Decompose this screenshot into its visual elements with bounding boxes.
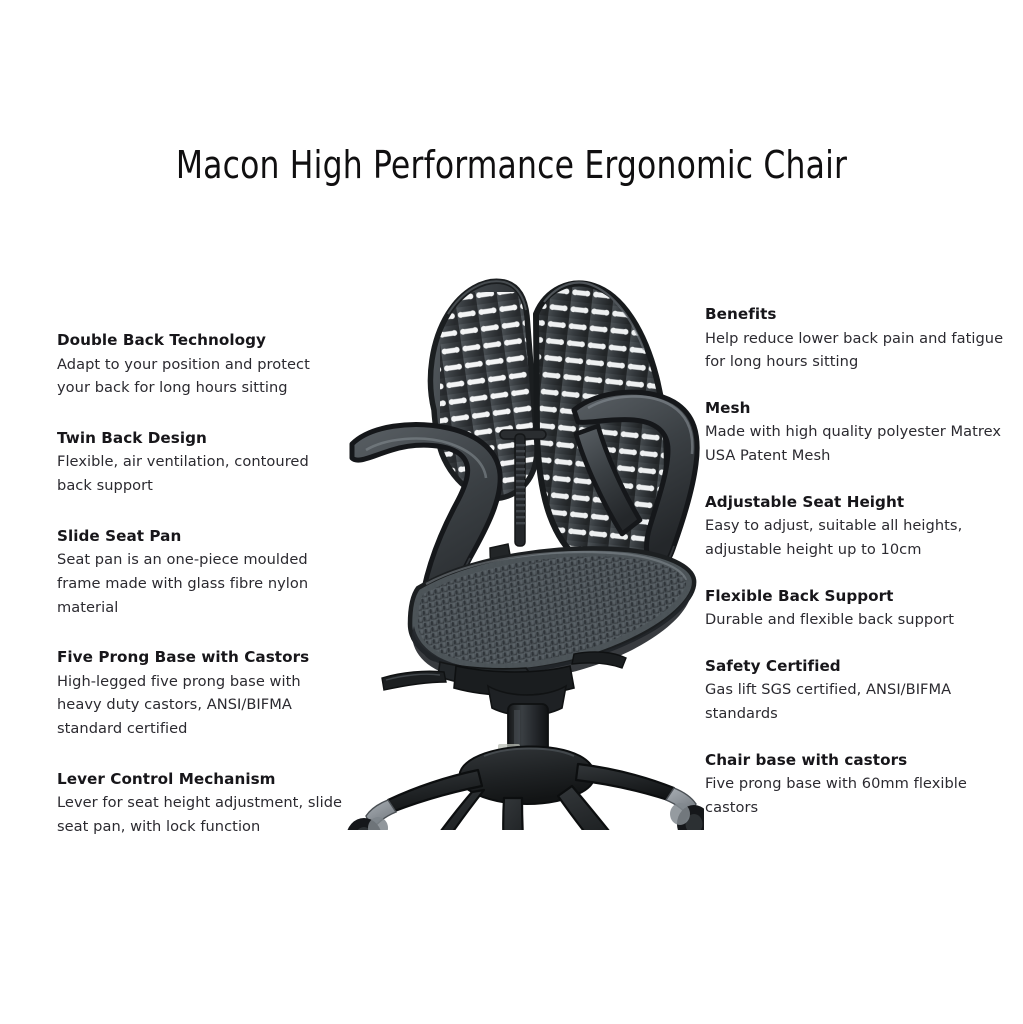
feature-body: Help reduce lower back pain and fatigue … bbox=[705, 327, 1005, 374]
feature-flexible-back-support: Flexible Back Support Durable and flexib… bbox=[705, 586, 1005, 632]
feature-heading: Safety Certified bbox=[705, 656, 1005, 678]
feature-lever-control-mechanism: Lever Control Mechanism Lever for seat h… bbox=[57, 769, 347, 839]
feature-heading: Double Back Technology bbox=[57, 330, 347, 352]
left-feature-column: Double Back Technology Adapt to your pos… bbox=[57, 330, 347, 861]
feature-heading: Slide Seat Pan bbox=[57, 526, 347, 548]
feature-adjustable-seat-height: Adjustable Seat Height Easy to adjust, s… bbox=[705, 492, 1005, 562]
five-prong-base bbox=[366, 746, 696, 830]
feature-heading: Five Prong Base with Castors bbox=[57, 647, 347, 669]
feature-safety-certified: Safety Certified Gas lift SGS certified,… bbox=[705, 656, 1005, 726]
feature-body: Gas lift SGS certified, ANSI/BIFMA stand… bbox=[705, 678, 1005, 725]
feature-body: High-legged five prong base with heavy d… bbox=[57, 670, 347, 741]
feature-body: Durable and flexible back support bbox=[705, 608, 1005, 632]
castor bbox=[670, 803, 704, 830]
feature-five-prong-base-with-castors: Five Prong Base with Castors High-legged… bbox=[57, 647, 347, 741]
feature-heading: Lever Control Mechanism bbox=[57, 769, 347, 791]
feature-body: Lever for seat height adjustment, slide … bbox=[57, 791, 347, 838]
feature-body: Seat pan is an one-piece moulded frame m… bbox=[57, 548, 347, 619]
feature-chair-base-with-castors: Chair base with castors Five prong base … bbox=[705, 750, 1005, 820]
macon-chair-illustration bbox=[322, 258, 704, 830]
feature-body: Made with high quality polyester Matrex … bbox=[705, 420, 1005, 467]
feature-benefits: Benefits Help reduce lower back pain and… bbox=[705, 304, 1005, 374]
feature-heading: Mesh bbox=[705, 398, 1005, 420]
product-infographic: Macon High Performance Ergonomic Chair D… bbox=[0, 0, 1023, 1024]
feature-heading: Flexible Back Support bbox=[705, 586, 1005, 608]
feature-heading: Benefits bbox=[705, 304, 1005, 326]
feature-body: Adapt to your position and protect your … bbox=[57, 353, 347, 400]
feature-mesh: Mesh Made with high quality polyester Ma… bbox=[705, 398, 1005, 468]
product-image bbox=[322, 258, 704, 830]
feature-heading: Twin Back Design bbox=[57, 428, 347, 450]
feature-body: Easy to adjust, suitable all heights, ad… bbox=[705, 514, 1005, 561]
feature-heading: Adjustable Seat Height bbox=[705, 492, 1005, 514]
right-feature-column: Benefits Help reduce lower back pain and… bbox=[705, 304, 1005, 844]
feature-double-back-technology: Double Back Technology Adapt to your pos… bbox=[57, 330, 347, 400]
feature-heading: Chair base with castors bbox=[705, 750, 1005, 772]
feature-body: Five prong base with 60mm flexible casto… bbox=[705, 772, 1005, 819]
feature-slide-seat-pan: Slide Seat Pan Seat pan is an one-piece … bbox=[57, 526, 347, 620]
feature-twin-back-design: Twin Back Design Flexible, air ventilati… bbox=[57, 428, 347, 498]
page-title: Macon High Performance Ergonomic Chair bbox=[41, 143, 982, 187]
feature-body: Flexible, air ventilation, contoured bac… bbox=[57, 450, 347, 497]
castor bbox=[346, 817, 388, 830]
